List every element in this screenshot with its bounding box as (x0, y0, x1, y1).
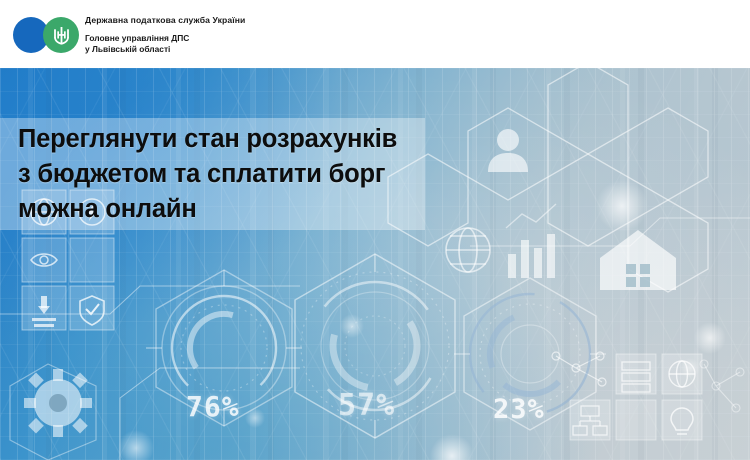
gauge-label-57: 57% (338, 388, 395, 423)
banner-page: Державна податкова служба України Головн… (0, 0, 750, 460)
gauge-label-76: 76% (186, 390, 240, 423)
hero-banner: 76% 57% 23% Переглянути стан розрахунків… (0, 68, 750, 460)
department-title: Головне управління ДПС у Львівській обла… (85, 33, 365, 55)
banner-headline: Переглянути стан розрахунків з бюджетом … (18, 122, 438, 227)
site-header: Державна податкова служба України Головн… (0, 0, 750, 68)
trident-icon (43, 17, 79, 53)
header-text-block: Державна податкова служба України Головн… (85, 15, 365, 55)
gauge-label-23: 23% (493, 394, 545, 425)
agency-logo[interactable] (13, 17, 79, 53)
org-title: Державна податкова служба України (85, 15, 365, 26)
